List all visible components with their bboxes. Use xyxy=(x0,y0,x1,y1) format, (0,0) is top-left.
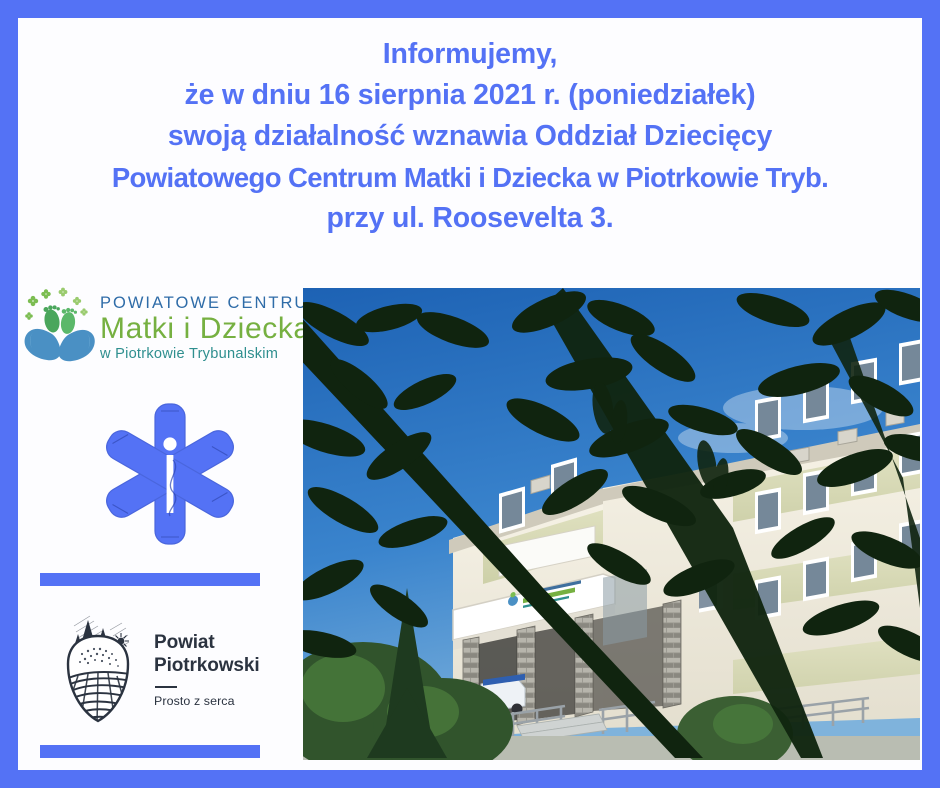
divider-top xyxy=(40,573,260,586)
poster-inner-panel: Informujemy, że w dniu 16 sierpnia 2021 … xyxy=(18,18,922,770)
pcmid-logo-text: POWIATOWE CENTRUM Matki i Dziecka w Piot… xyxy=(100,292,324,361)
pcmid-logo-line-2: Matki i Dziecka xyxy=(100,314,324,344)
star-of-life-information-icon xyxy=(94,398,246,550)
headline-line-3: swoją działalność wznawia Oddział Dzieci… xyxy=(26,116,914,157)
hospital-building-illustration xyxy=(303,288,920,760)
page-title: Informujemy, że w dniu 16 sierpnia 2021 … xyxy=(18,34,922,239)
headline-line-5: przy ul. Roosevelta 3. xyxy=(26,198,914,239)
powiat-logo-text: Powiat Piotrkowski Prosto z serca xyxy=(154,626,260,708)
powiat-name-line-1: Powiat xyxy=(154,632,260,654)
powiat-tagline: Prosto z serca xyxy=(154,694,260,708)
pcmid-logo-line-1: POWIATOWE CENTRUM xyxy=(100,295,324,312)
branding-column: POWIATOWE CENTRUM Matki i Dziecka w Piot… xyxy=(18,270,303,770)
headline-line-2: że w dniu 16 sierpnia 2021 r. (poniedzia… xyxy=(26,75,914,116)
divider-bottom xyxy=(40,745,260,758)
headline-line-4: Powiatowego Centrum Matki i Dziecka w Pi… xyxy=(26,157,914,198)
powiat-shield-emblem-icon xyxy=(58,608,142,726)
pcmid-logo: POWIATOWE CENTRUM Matki i Dziecka w Piot… xyxy=(22,284,298,370)
announcement-poster: Informujemy, że w dniu 16 sierpnia 2021 … xyxy=(0,0,940,788)
pcmid-logo-line-3: w Piotrkowie Trybunalskim xyxy=(100,347,324,362)
powiat-name-line-2: Piotrkowski xyxy=(154,655,260,677)
headline-line-1: Informujemy, xyxy=(26,34,914,75)
hands-cradling-footprints-icon xyxy=(22,287,98,367)
hospital-building-photo xyxy=(303,288,920,760)
powiat-piotrkowski-logo: Powiat Piotrkowski Prosto z serca xyxy=(58,603,273,731)
powiat-tagline-rule xyxy=(155,686,177,688)
